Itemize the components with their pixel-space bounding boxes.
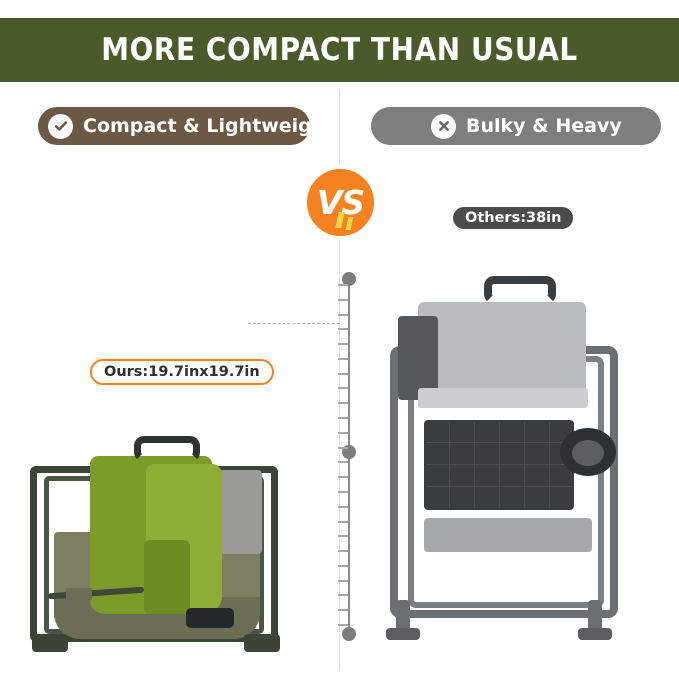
right-chair-foot-left [386,628,420,640]
ruler-tick [338,521,348,523]
ruler-tick [338,343,348,345]
right-chair-panel-gridline [426,464,572,465]
left-chair-green-strap [144,540,190,614]
ruler-tick [338,432,348,434]
right-chair-top-cushion [418,302,586,400]
right-chair-lower-pad [424,518,592,552]
right-chair-cup-holder-inner [572,440,604,466]
right-pill-label: Bulky & Heavy [466,115,622,137]
ruler-tick [338,358,348,360]
ruler-tick [338,373,348,375]
ruler-tick [338,476,348,478]
right-chair-panel-gridline [426,442,572,443]
ruler-tick [338,402,348,404]
ruler-tick [338,491,348,493]
right-chair-panel-gridline [499,422,500,508]
right-chair-panel-gridline [549,422,550,508]
left-chair-carry-handle [134,436,200,462]
ruler-tick [338,461,348,463]
vs-badge: VS [303,165,378,240]
right-chair-carry-handle [484,276,556,304]
header-banner: MORE COMPACT THAN USUAL [0,18,679,82]
right-chair-foot-right [578,628,612,640]
ruler-tick [338,535,348,537]
others-measurement-tag: Others:38in [451,205,575,231]
ours-measurement-tag: Ours:19.7inx19.7in [90,359,274,385]
left-chair-logo [66,588,92,600]
height-comparison-ruler [338,272,364,642]
ruler-tick [338,506,348,508]
ruler-tick [338,299,348,301]
page-title: MORE COMPACT THAN USUAL [101,32,578,68]
ruler-endpoint-bottom [342,627,356,641]
check-icon [48,114,73,139]
compact-folding-chair-green [18,392,308,660]
bulky-folding-chair-grey [374,260,644,642]
ruler-tick [338,387,348,389]
left-chair-foot-right [244,634,280,652]
right-chair-cushion-stripe [418,388,588,408]
ruler-tick [338,550,348,552]
right-chair-panel-gridline [524,422,525,508]
left-chair-accessory-bar [186,608,234,628]
left-feature-pill: Compact & Lightweight [38,107,310,145]
ruler-tick [338,580,348,582]
right-chair-panel-gridline [449,422,450,508]
ruler-tick [338,328,348,330]
lightning-bolt-icon-secondary [346,217,354,230]
ruler-tick [338,417,348,419]
ours-measurement-label: Ours:19.7inx19.7in [104,364,260,380]
ruler-tick [338,594,348,596]
ruler-tick [338,447,348,449]
comparison-content: Compact & Lightweight Bulky & Heavy VS O… [0,82,679,679]
ruler-tick [338,314,348,316]
ruler-tick [338,624,348,626]
measurement-connector-line [248,323,340,325]
right-chair-panel-gridline [474,422,475,508]
others-measurement-label: Others:38in [465,210,561,226]
ruler-tick [338,565,348,567]
product-comparison-infographic: MORE COMPACT THAN USUAL Compact & Lightw… [0,0,679,679]
ruler-tick [338,609,348,611]
left-chair-foot-left [32,634,68,652]
ruler-tick [338,284,348,286]
left-pill-label: Compact & Lightweight [83,115,334,137]
right-chair-panel-gridline [426,486,572,487]
cross-icon [431,114,456,139]
right-feature-pill: Bulky & Heavy [371,107,661,145]
